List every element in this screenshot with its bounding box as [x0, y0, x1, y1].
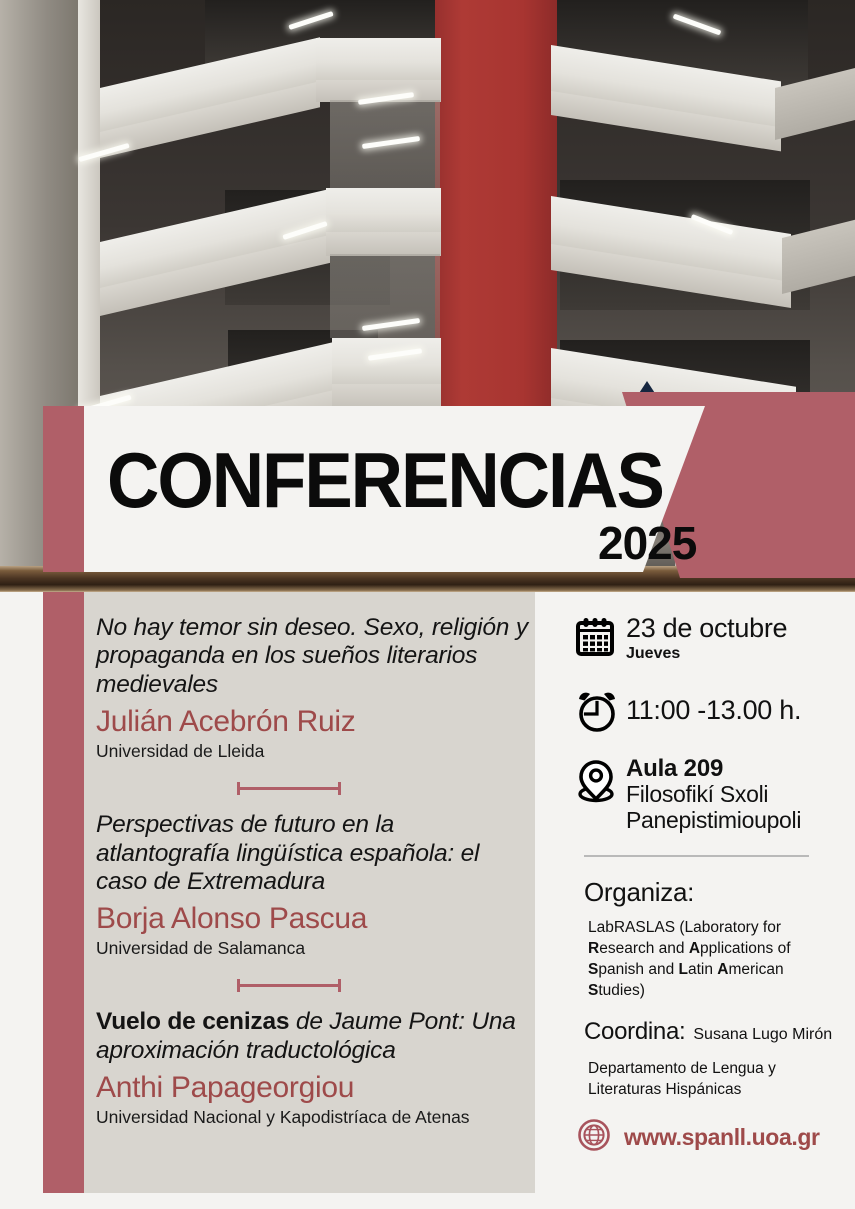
- venue-line-1: Filosofikí Sxoli: [626, 782, 836, 807]
- globe-icon: [578, 1119, 610, 1156]
- calendar-icon: [574, 614, 626, 658]
- title-banner-left-bar: [43, 406, 84, 572]
- photo-balcony-edge: [326, 232, 441, 256]
- time-text: 11:00 -13.00 h.: [626, 686, 836, 724]
- talk-separator: [96, 779, 528, 797]
- separator-cap-right: [338, 979, 341, 992]
- venue-line-2: Panepistimioupoli: [626, 808, 836, 833]
- coordina-row: Coordina: Susana Lugo Mirón: [584, 1018, 836, 1046]
- talk-speaker: Borja Alonso Pascua: [96, 901, 528, 937]
- talk-item: Perspectivas de futuro en la atlantograf…: [96, 811, 528, 960]
- talks-panel-left-bar: [43, 592, 84, 1193]
- location-row: Aula 209 Filosofikí Sxoli Panepistimioup…: [574, 756, 836, 833]
- map-pin-icon: [574, 756, 626, 804]
- department-line-2: Literaturas Hispánicas: [588, 1079, 818, 1101]
- talk-separator: [96, 976, 528, 994]
- separator-cap-right: [338, 782, 341, 795]
- talk-title-work: Vuelo de cenizas: [96, 1008, 289, 1035]
- coordina-label: Coordina:: [584, 1018, 685, 1046]
- talk-title: Vuelo de cenizas de Jaume Pont: Una apro…: [96, 1008, 528, 1065]
- talk-title: No hay temor sin deseo. Sexo, religión y…: [96, 614, 528, 699]
- photo-balcony-slab: [316, 38, 441, 82]
- talk-item: Vuelo de cenizas de Jaume Pont: Una apro…: [96, 1008, 528, 1129]
- time-row: 11:00 -13.00 h.: [574, 686, 836, 734]
- talk-affiliation: Universidad Nacional y Kapodistríaca de …: [96, 1107, 528, 1129]
- department-line-1: Departamento de Lengua y: [588, 1058, 818, 1080]
- poster-root: CONFERENCIAS 2025 No hay temor sin deseo…: [0, 0, 855, 1209]
- talk-speaker: Julián Acebrón Ruiz: [96, 704, 528, 740]
- website-row[interactable]: www.spanll.uoa.gr: [578, 1119, 836, 1156]
- date-text: 23 de octubre Jueves: [626, 614, 836, 664]
- talk-affiliation: Universidad de Lleida: [96, 741, 528, 763]
- photo-balcony-slab: [326, 188, 441, 234]
- date-value: 23 de octubre: [626, 614, 836, 642]
- title-year: 2025: [598, 520, 696, 566]
- time-value: 11:00 -13.00 h.: [626, 686, 836, 724]
- section-divider: [584, 855, 809, 857]
- details-column: 23 de octubre Jueves 11:00 -13.00 h.: [574, 614, 836, 1156]
- talk-affiliation: Universidad de Salamanca: [96, 938, 528, 960]
- talks-list: No hay temor sin deseo. Sexo, religión y…: [96, 614, 528, 1129]
- date-row: 23 de octubre Jueves: [574, 614, 836, 664]
- photo-balcony-slab: [332, 338, 441, 386]
- website-url[interactable]: www.spanll.uoa.gr: [624, 1124, 820, 1151]
- separator-bar: [237, 984, 341, 987]
- room-value: Aula 209: [626, 756, 836, 783]
- organiza-label: Organiza:: [584, 877, 836, 908]
- organiza-value: LabRASLAS (Laboratory for Research and A…: [588, 918, 828, 1002]
- talk-item: No hay temor sin deseo. Sexo, religión y…: [96, 614, 528, 763]
- weekday-value: Jueves: [626, 644, 836, 663]
- talk-speaker: Anthi Papageorgiou: [96, 1070, 528, 1106]
- page-title: CONFERENCIAS: [107, 441, 663, 519]
- separator-bar: [237, 787, 341, 790]
- location-text: Aula 209 Filosofikí Sxoli Panepistimioup…: [626, 756, 836, 833]
- talk-title: Perspectivas de futuro en la atlantograf…: [96, 811, 528, 896]
- alarm-clock-icon: [574, 686, 626, 734]
- coordina-name: Susana Lugo Mirón: [693, 1026, 832, 1044]
